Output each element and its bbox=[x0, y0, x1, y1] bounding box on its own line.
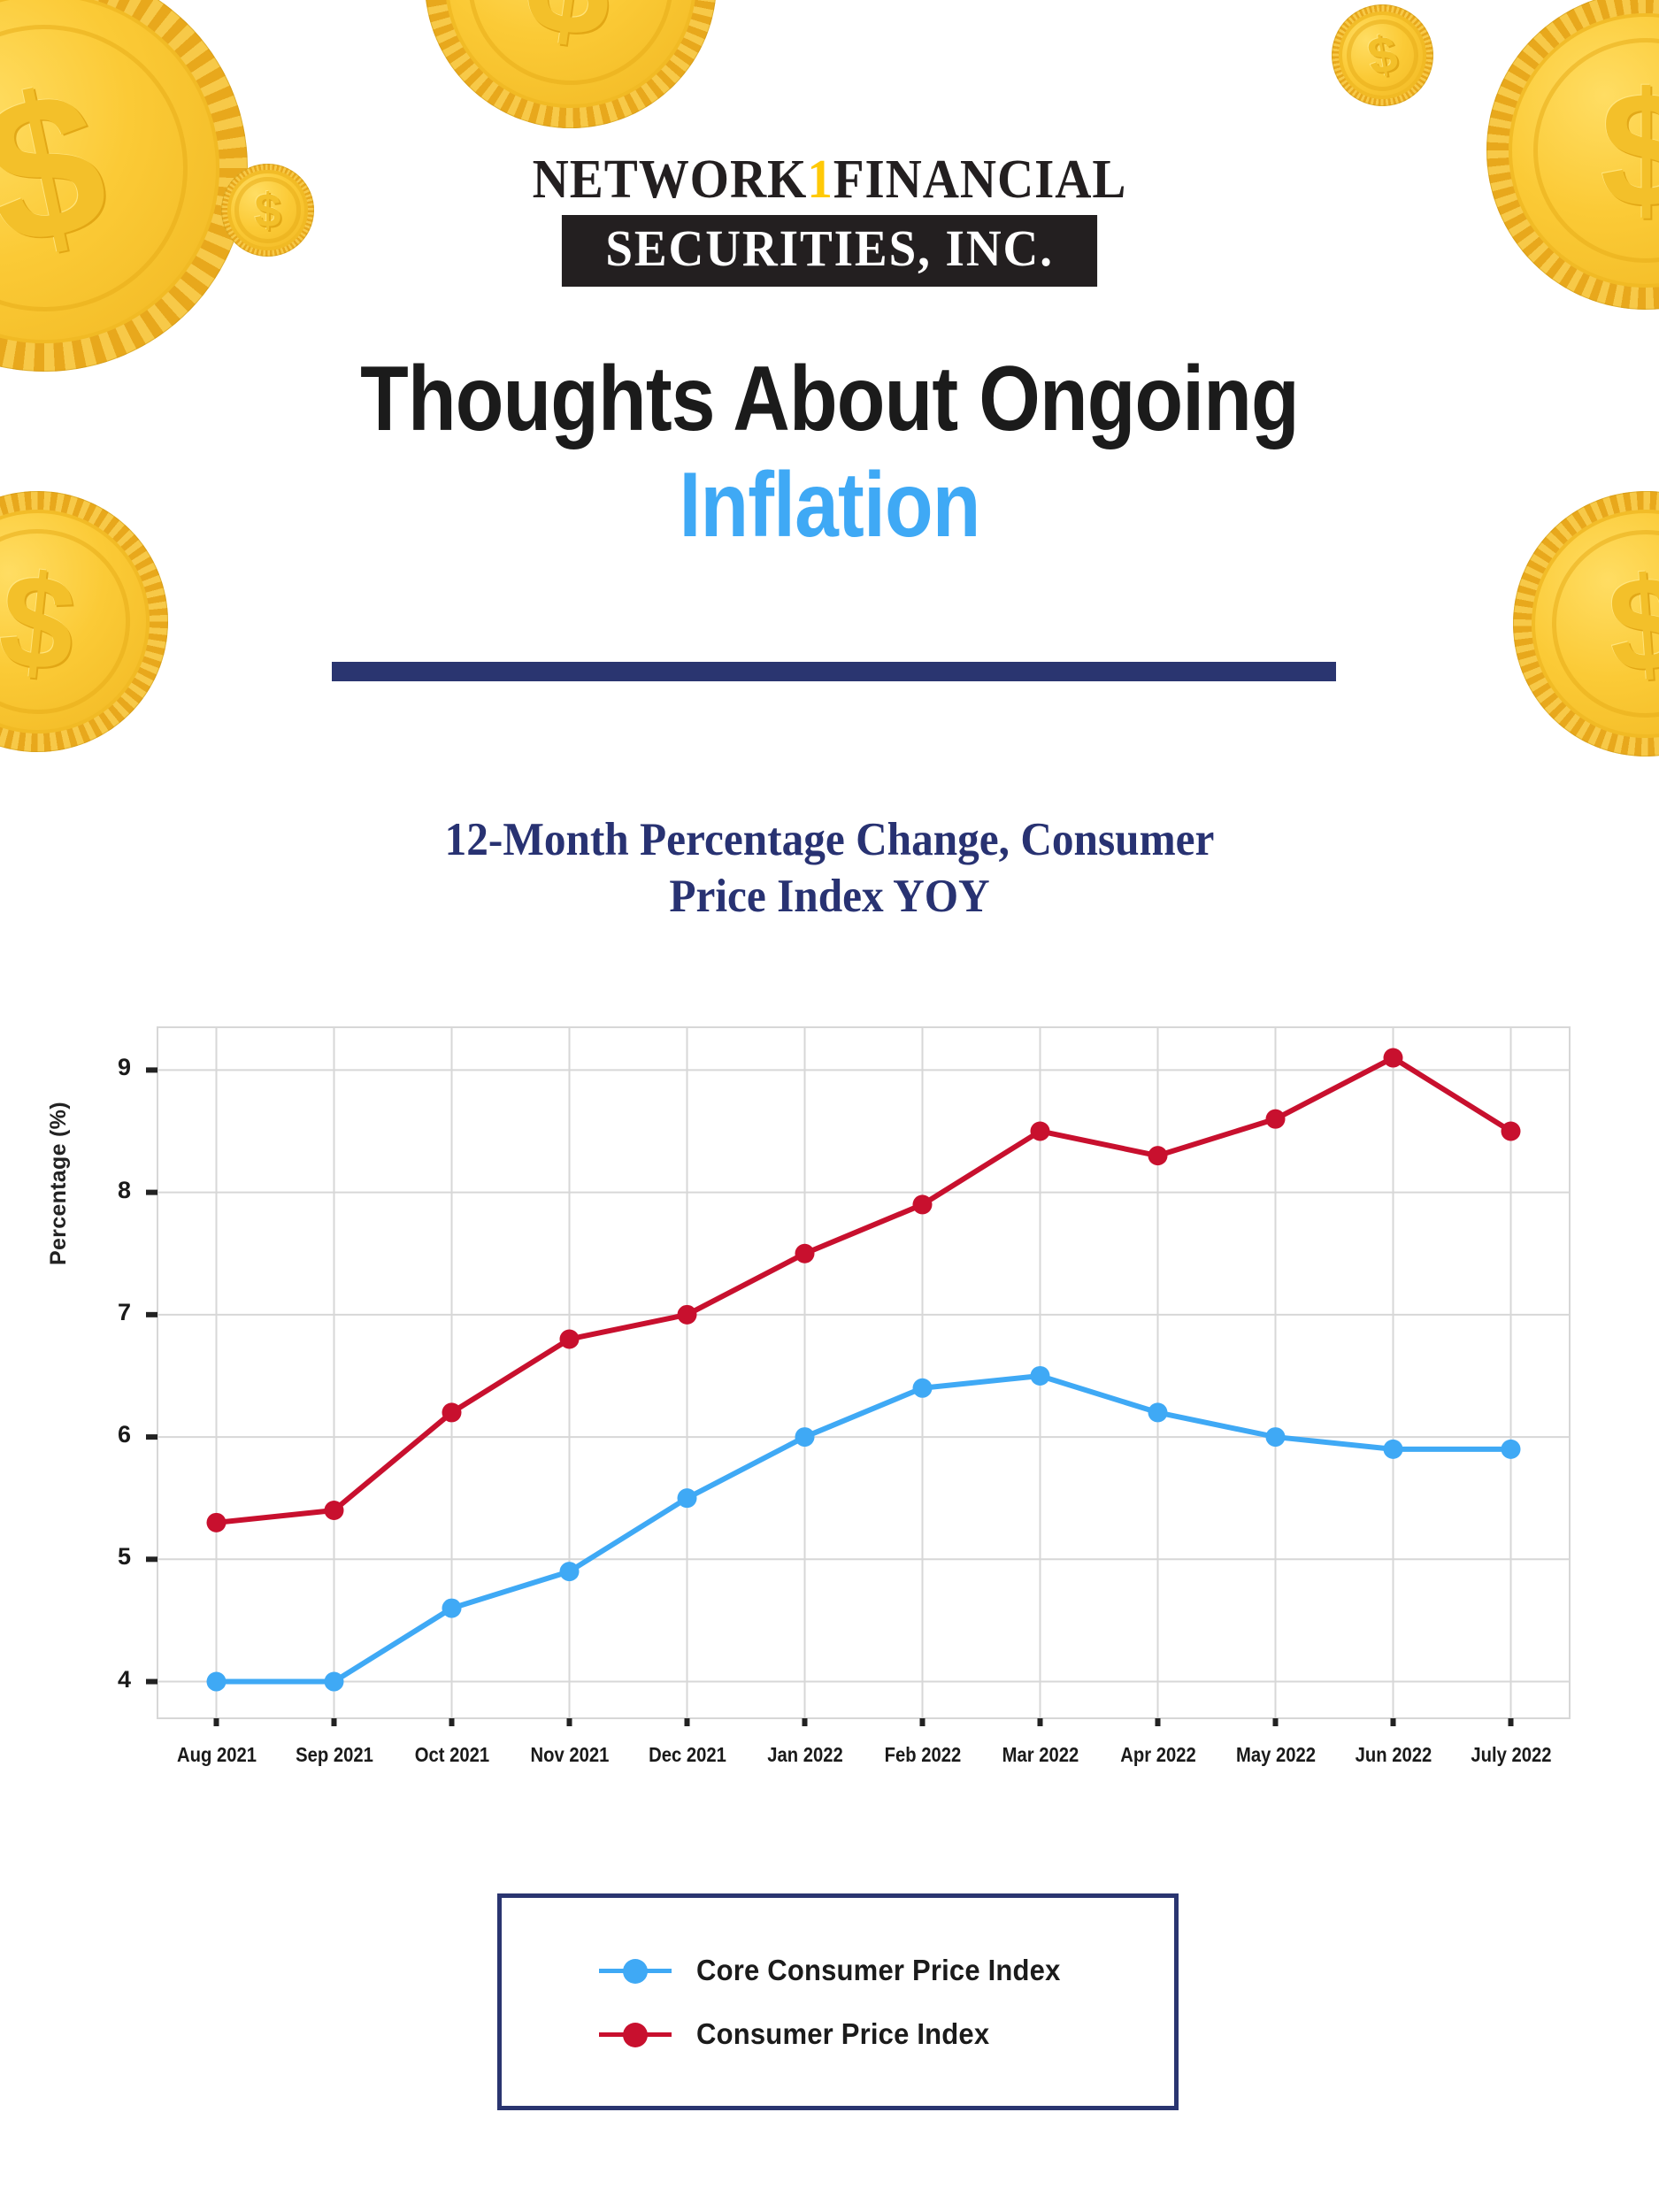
chart-canvas bbox=[0, 991, 1659, 1787]
series-line bbox=[217, 1058, 1511, 1523]
data-point bbox=[678, 1305, 697, 1325]
data-point bbox=[1266, 1110, 1286, 1129]
data-point bbox=[1148, 1402, 1168, 1422]
chart-subtitle-line-2: Price Index YOY bbox=[58, 869, 1601, 926]
headline-block: Thoughts About Ongoing Inflation bbox=[0, 352, 1659, 552]
data-point bbox=[442, 1402, 462, 1422]
data-point bbox=[560, 1329, 580, 1348]
chart-legend: Core Consumer Price IndexConsumer Price … bbox=[497, 1893, 1179, 2110]
legend-item[interactable]: Consumer Price Index bbox=[502, 2017, 1174, 2051]
data-point bbox=[1148, 1146, 1168, 1165]
data-point bbox=[913, 1194, 933, 1214]
data-point bbox=[1031, 1366, 1050, 1386]
y-axis-label: Percentage (%) bbox=[46, 1088, 72, 1265]
data-point bbox=[207, 1513, 227, 1532]
dollar-icon: $ bbox=[0, 552, 81, 692]
data-point bbox=[913, 1379, 933, 1398]
company-logo: NETWORK1FINANCIAL SECURITIES, INC. bbox=[0, 149, 1659, 287]
chart-subtitle-line-1: 12-Month Percentage Change, Consumer bbox=[58, 812, 1601, 869]
legend-item-label: Core Consumer Price Index bbox=[696, 1954, 1061, 1987]
logo-network-text: NETWORK bbox=[533, 150, 808, 210]
data-point bbox=[1031, 1121, 1050, 1141]
dollar-icon: $ bbox=[1604, 555, 1659, 692]
data-point bbox=[795, 1244, 815, 1263]
data-point bbox=[678, 1488, 697, 1508]
data-point bbox=[442, 1599, 462, 1618]
data-point bbox=[1502, 1121, 1521, 1141]
data-point bbox=[207, 1672, 227, 1692]
data-point bbox=[1266, 1427, 1286, 1447]
legend-item-label: Consumer Price Index bbox=[696, 2017, 989, 2051]
title-divider bbox=[332, 662, 1336, 681]
logo-line-1: NETWORK1FINANCIAL bbox=[66, 149, 1593, 211]
data-point bbox=[1384, 1440, 1403, 1459]
dollar-icon: $ bbox=[518, 0, 622, 63]
legend-dot bbox=[623, 1959, 648, 1984]
legend-marker-icon bbox=[599, 2023, 672, 2046]
page-title-accent: Inflation bbox=[116, 458, 1543, 552]
chart-subtitle: 12-Month Percentage Change, Consumer Pri… bbox=[58, 812, 1601, 925]
legend-dot bbox=[623, 2023, 648, 2047]
coin-decoration-top-middle: $ bbox=[406, 0, 736, 147]
coin-decoration-small-right: $ bbox=[1324, 0, 1441, 114]
logo-financial-text: FINANCIAL bbox=[833, 150, 1127, 210]
line-chart bbox=[0, 991, 1659, 1787]
data-point bbox=[325, 1672, 344, 1692]
plot-border bbox=[157, 1027, 1570, 1718]
legend-marker-icon bbox=[599, 1959, 672, 1982]
series-line bbox=[217, 1376, 1511, 1682]
data-point bbox=[795, 1427, 815, 1447]
data-point bbox=[1502, 1440, 1521, 1459]
data-point bbox=[1384, 1048, 1403, 1068]
data-point bbox=[560, 1562, 580, 1581]
logo-line-2: SECURITIES, INC. bbox=[562, 215, 1097, 287]
logo-numeral-one: 1 bbox=[807, 150, 833, 210]
data-point bbox=[325, 1501, 344, 1520]
dollar-icon: $ bbox=[1364, 27, 1402, 83]
page-title: Thoughts About Ongoing bbox=[116, 352, 1543, 446]
legend-item[interactable]: Core Consumer Price Index bbox=[502, 1954, 1174, 1987]
